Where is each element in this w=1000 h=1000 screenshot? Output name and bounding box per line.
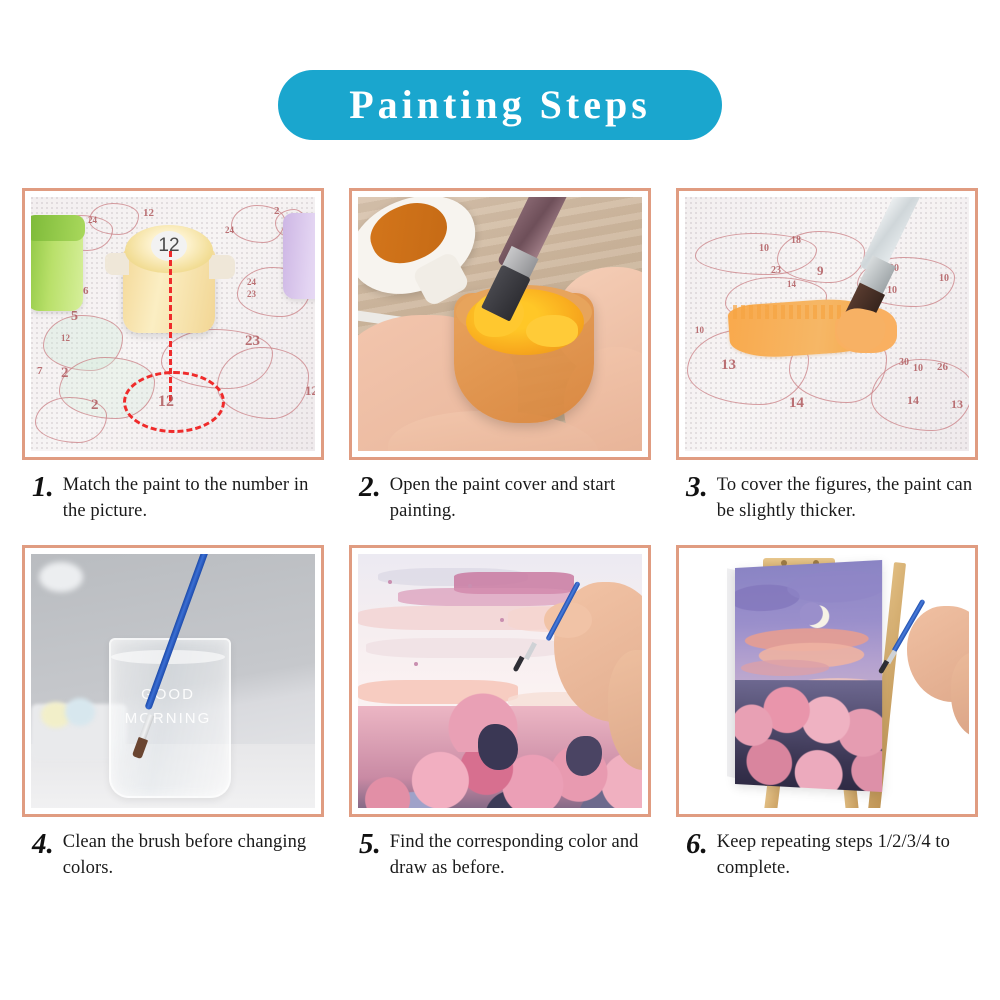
step-card-6: 6. Keep repeating steps 1/2/3/4 to compl… <box>676 545 978 882</box>
step-6-image-frame <box>676 545 978 817</box>
page-header: Painting Steps <box>0 70 1000 140</box>
step-4-image-frame: GOOD MORNING <box>22 545 324 817</box>
open-paint-pot-with-brush <box>358 197 642 451</box>
match-target-circle <box>123 371 225 433</box>
step-text: Match the paint to the number in the pic… <box>63 472 324 525</box>
step-6-caption: 6. Keep repeating steps 1/2/3/4 to compl… <box>676 829 978 882</box>
painting-blossoms <box>735 680 882 792</box>
moon-shadow <box>800 601 823 625</box>
brush-bristles <box>513 655 525 671</box>
steps-grid: 12 2 24 24 7 6 5 12 7 2 2 24 23 23 12 <box>22 188 978 881</box>
paint-pot-matched-to-canvas-number: 12 2 24 24 7 6 5 12 7 2 2 24 23 23 12 <box>31 197 315 451</box>
step-number: 3. <box>686 472 708 502</box>
step-number: 1. <box>32 472 54 502</box>
purple-paint-pot <box>283 213 315 299</box>
step-4-caption: 4. Clean the brush before changing color… <box>22 829 324 882</box>
step-text: Find the corresponding color and draw as… <box>390 829 651 882</box>
step-3-caption: 3. To cover the figures, the paint can b… <box>676 472 978 525</box>
finished-painting-on-easel <box>685 554 969 808</box>
match-target-number: 12 <box>158 393 174 411</box>
brush-covering-numbered-area: 10 18 23 14 9 20 10 10 10 20 13 30 10 26… <box>685 197 969 451</box>
green-paint-pot-lid <box>31 215 85 241</box>
step-2-caption: 2. Open the paint cover and start painti… <box>349 472 651 525</box>
finished-painting <box>735 559 882 791</box>
step-2-image-frame <box>349 188 651 460</box>
step-card-4: GOOD MORNING 4. Clean the brush before c… <box>22 545 324 882</box>
step-text: Open the paint cover and start painting. <box>390 472 651 525</box>
step-1-caption: 1. Match the paint to the number in the … <box>22 472 324 525</box>
number-dot <box>388 580 392 584</box>
background-egg <box>65 698 95 726</box>
pot-tab-right <box>209 255 235 279</box>
sky-band <box>366 638 566 658</box>
step-text: Keep repeating steps 1/2/3/4 to complete… <box>717 829 978 882</box>
step-card-5: 5. Find the corresponding color and draw… <box>349 545 651 882</box>
step-text: To cover the figures, the paint can be s… <box>717 472 978 525</box>
glass-text-line-2: MORNING <box>109 710 227 727</box>
step-card-1: 12 2 24 24 7 6 5 12 7 2 2 24 23 23 12 <box>22 188 324 525</box>
sunset-cloud <box>741 659 829 676</box>
title-pill: Painting Steps <box>278 70 722 140</box>
glass-text-line-1: GOOD <box>109 686 227 703</box>
step-card-3: 10 18 23 14 9 20 10 10 10 20 13 30 10 26… <box>676 188 978 525</box>
page-title: Painting Steps <box>349 85 651 125</box>
step-5-caption: 5. Find the corresponding color and draw… <box>349 829 651 882</box>
step-number: 2. <box>359 472 381 502</box>
number-dot <box>500 618 504 622</box>
number-dot <box>414 662 418 666</box>
step-text: Clean the brush before changing colors. <box>63 829 324 882</box>
step-number: 4. <box>32 829 54 859</box>
step-5-image-frame <box>349 545 651 817</box>
step-1-image-frame: 12 2 24 24 7 6 5 12 7 2 2 24 23 23 12 <box>22 188 324 460</box>
brush-stroke-texture <box>733 305 843 319</box>
paint-peak <box>526 315 578 347</box>
background-object <box>39 562 83 592</box>
canvas-outline-shape <box>217 347 309 419</box>
sky-band <box>398 588 578 606</box>
hand-painting-blossom-canvas <box>358 554 642 808</box>
step-number: 6. <box>686 829 708 859</box>
step-number: 5. <box>359 829 381 859</box>
brush-rinsing-in-water-glass: GOOD MORNING <box>31 554 315 808</box>
step-3-image-frame: 10 18 23 14 9 20 10 10 10 20 13 30 10 26… <box>676 188 978 460</box>
number-dot <box>468 584 472 588</box>
step-card-2: 2. Open the paint cover and start painti… <box>349 188 651 525</box>
